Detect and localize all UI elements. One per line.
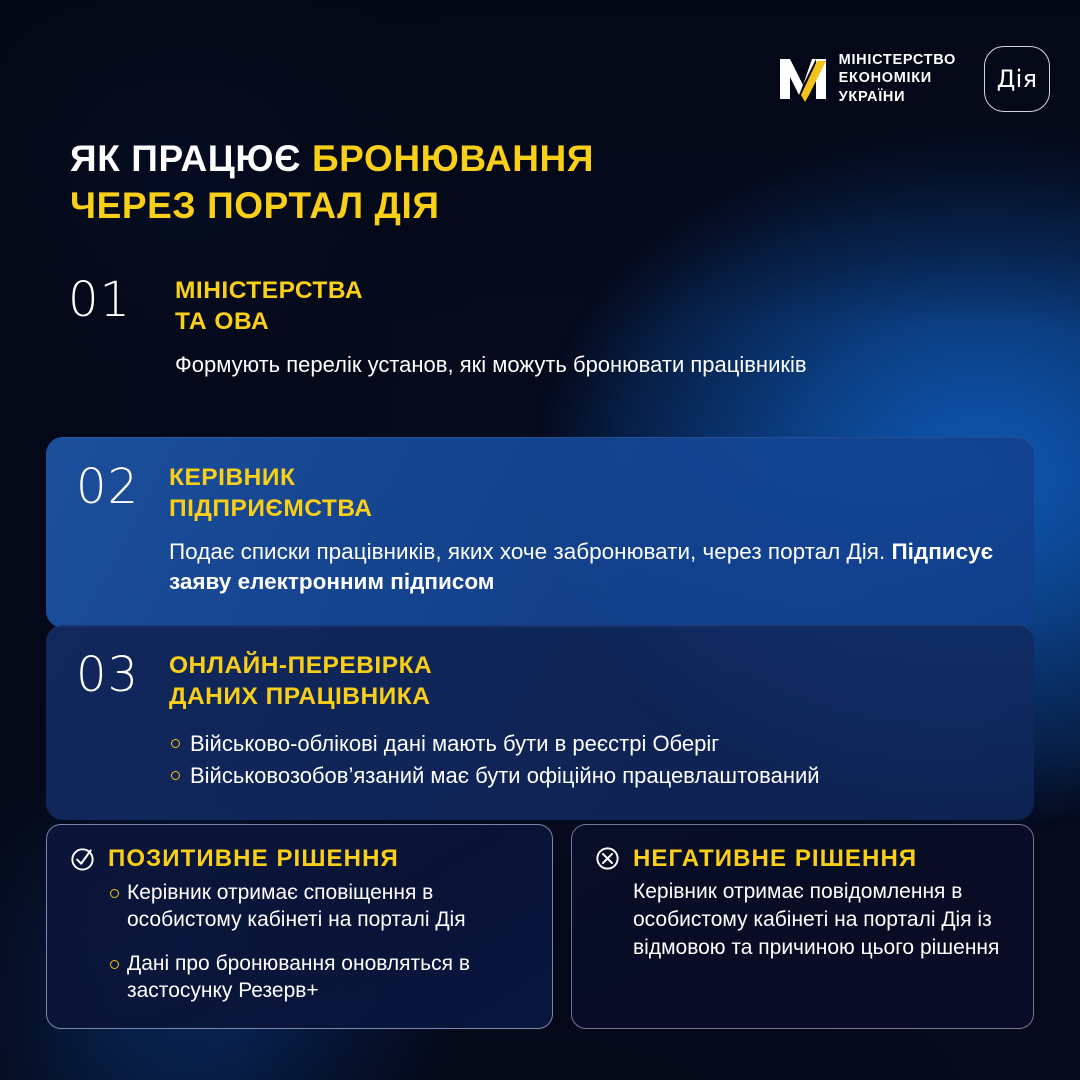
negative-decision-header: НЕГАТИВНЕ РІШЕННЯ [594, 845, 1011, 872]
step-01-body: МІНІСТЕРСТВА ТА ОВА Формують перелік уст… [175, 276, 828, 380]
page-title-accent-1: БРОНЮВАННЯ [312, 138, 594, 179]
step-01: 01 МІНІСТЕРСТВА ТА ОВА Формують перелік … [68, 276, 828, 380]
step-02-heading-line-1: КЕРІВНИК [169, 464, 295, 491]
step-01-heading-line-1: МІНІСТЕРСТВА [175, 277, 363, 304]
negative-decision-card: НЕГАТИВНЕ РІШЕННЯ Керівник отримає повід… [571, 824, 1034, 1029]
ministry-logo: МІНІСТЕРСТВО ЕКОНОМІКИ УКРАЇНИ [780, 53, 956, 106]
positive-decision-title: ПОЗИТИВНЕ РІШЕННЯ [108, 847, 399, 871]
step-03-card: 03 ОНЛАЙН-ПЕРЕВІРКА ДАНИХ ПРАЦІВНИКА Вій… [46, 625, 1034, 820]
list-item: Військово-облікові дані мають бути в реє… [169, 729, 1004, 758]
infographic-content: МІНІСТЕРСТВО ЕКОНОМІКИ УКРАЇНИ Дія ЯК ПР… [0, 0, 1080, 1080]
cross-circle-icon [594, 845, 621, 872]
step-02-heading-line-2: ПІДПРИЄМСТВА [169, 495, 372, 522]
step-02-card: 02 КЕРІВНИК ПІДПРИЄМСТВА Подає списки пр… [46, 437, 1034, 628]
step-01-text: Формують перелік установ, які можуть бро… [175, 350, 828, 380]
negative-decision-body: Керівник отримає повідомлення в особисто… [594, 878, 1011, 962]
list-item: Керівник отримає сповіщення в особистому… [108, 880, 530, 934]
list-item: Дані про бронювання оновляться в застосу… [108, 951, 530, 1005]
step-03-number: 03 [76, 651, 169, 790]
ministry-m-mark-icon [780, 55, 826, 103]
dia-logo-badge: Дія [984, 46, 1050, 112]
page-title-white: ЯК ПРАЦЮЄ [70, 138, 312, 179]
negative-decision-text: Керівник отримає повідомлення в особисто… [633, 878, 1011, 962]
check-circle-icon [69, 845, 96, 872]
ministry-logo-text: МІНІСТЕРСТВО ЕКОНОМІКИ УКРАЇНИ [839, 53, 956, 106]
decision-cards-row: ПОЗИТИВНЕ РІШЕННЯ Керівник отримає спові… [46, 824, 1034, 1029]
step-03-body: ОНЛАЙН-ПЕРЕВІРКА ДАНИХ ПРАЦІВНИКА Військ… [169, 651, 1004, 790]
step-02-text: Подає списки працівників, яких хоче забр… [169, 537, 1004, 598]
dia-logo-label: Дія [997, 65, 1038, 93]
step-02-text-normal: Подає списки працівників, яких хоче забр… [169, 539, 891, 564]
step-02-body: КЕРІВНИК ПІДПРИЄМСТВА Подає списки праці… [169, 463, 1004, 598]
page-title: ЯК ПРАЦЮЄ БРОНЮВАННЯ ЧЕРЕЗ ПОРТАЛ ДІЯ [70, 135, 790, 230]
header-logos: МІНІСТЕРСТВО ЕКОНОМІКИ УКРАЇНИ Дія [780, 46, 1050, 112]
list-item: Військовозобов’язаний має бути офіційно … [169, 761, 1004, 790]
step-01-heading: МІНІСТЕРСТВА ТА ОВА [175, 276, 828, 338]
step-03-bullet-list: Військово-облікові дані мають бути в реє… [169, 729, 1004, 791]
step-01-heading-line-2: ТА ОВА [175, 308, 269, 335]
step-02-number: 02 [76, 463, 169, 598]
positive-decision-body: Керівник отримає сповіщення в особистому… [69, 880, 530, 1005]
ministry-line-3: УКРАЇНИ [839, 90, 956, 106]
step-02-heading: КЕРІВНИК ПІДПРИЄМСТВА [169, 463, 1004, 525]
ministry-line-2: ЕКОНОМІКИ [839, 71, 956, 87]
step-03-heading-line-2: ДАНИХ ПРАЦІВНИКА [169, 683, 430, 710]
positive-decision-bullet-list: Керівник отримає сповіщення в особистому… [108, 880, 530, 1005]
step-01-number: 01 [68, 276, 175, 380]
negative-decision-title: НЕГАТИВНЕ РІШЕННЯ [633, 847, 917, 871]
positive-decision-card: ПОЗИТИВНЕ РІШЕННЯ Керівник отримає спові… [46, 824, 553, 1029]
ministry-line-1: МІНІСТЕРСТВО [839, 53, 956, 69]
step-03-heading-line-1: ОНЛАЙН-ПЕРЕВІРКА [169, 652, 432, 679]
step-03-heading: ОНЛАЙН-ПЕРЕВІРКА ДАНИХ ПРАЦІВНИКА [169, 651, 1004, 713]
positive-decision-header: ПОЗИТИВНЕ РІШЕННЯ [69, 845, 530, 872]
page-title-accent-2: ЧЕРЕЗ ПОРТАЛ ДІЯ [70, 185, 440, 226]
